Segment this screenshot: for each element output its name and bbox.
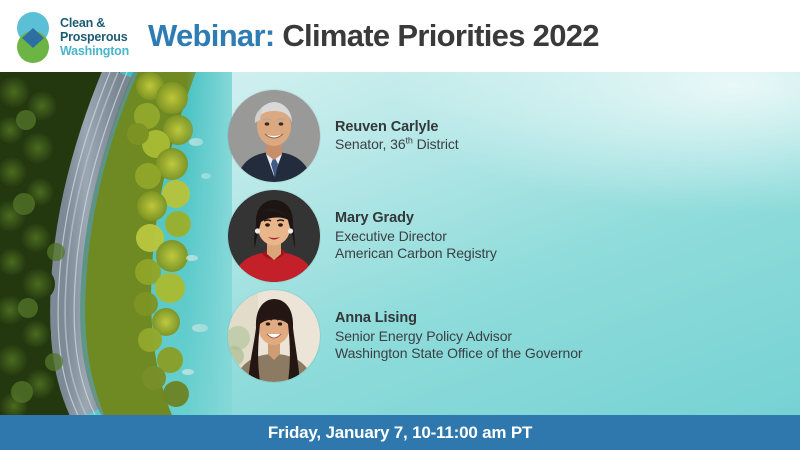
speaker-row: Mary Grady Executive Director American C… (228, 188, 788, 284)
title-main: Climate Priorities 2022 (282, 18, 598, 53)
speaker-row: Anna Lising Senior Energy Policy Advisor… (228, 288, 788, 384)
aerial-road-photo (0, 72, 232, 415)
avatar (228, 90, 320, 182)
speaker-info: Anna Lising Senior Energy Policy Advisor… (335, 310, 582, 362)
speaker-name: Reuven Carlyle (335, 119, 459, 137)
speaker-title-line-1: Senator, 36th District (335, 136, 459, 153)
speaker-title-line-2: American Carbon Registry (335, 245, 497, 262)
speaker-title-line-1: Senior Energy Policy Advisor (335, 328, 582, 345)
brand-name-line-1: Clean & (60, 16, 129, 30)
avatar (228, 290, 320, 382)
photo-edge-fade (186, 72, 232, 415)
brand-name-line-2: Prosperous (60, 30, 129, 44)
brand-logo: Clean & Prosperous Washington (10, 8, 138, 66)
avatar (228, 190, 320, 282)
slide-background: Reuven Carlyle Senator, 36th District (0, 72, 800, 415)
brand-name: Clean & Prosperous Washington (60, 16, 129, 58)
speaker-title-line-2: Washington State Office of the Governor (335, 345, 582, 362)
speaker-name: Mary Grady (335, 210, 497, 228)
speaker-row: Reuven Carlyle Senator, 36th District (228, 88, 788, 184)
speaker-title-line-1: Executive Director (335, 228, 497, 245)
slide-header: Clean & Prosperous Washington Webinar: C… (0, 0, 800, 72)
speaker-name: Anna Lising (335, 310, 582, 328)
speaker-info: Reuven Carlyle Senator, 36th District (335, 119, 459, 154)
brand-name-line-3: Washington (60, 44, 129, 58)
speaker-info: Mary Grady Executive Director American C… (335, 210, 497, 262)
event-datetime-bar: Friday, January 7, 10-11:00 am PT (0, 415, 800, 450)
title-prefix: Webinar: (148, 18, 274, 53)
two-overlapping-circles-logo-icon (12, 11, 56, 65)
event-datetime-text: Friday, January 7, 10-11:00 am PT (268, 423, 532, 443)
webinar-promo-slide: Reuven Carlyle Senator, 36th District (0, 0, 800, 450)
page-title: Webinar: Climate Priorities 2022 (148, 14, 599, 58)
